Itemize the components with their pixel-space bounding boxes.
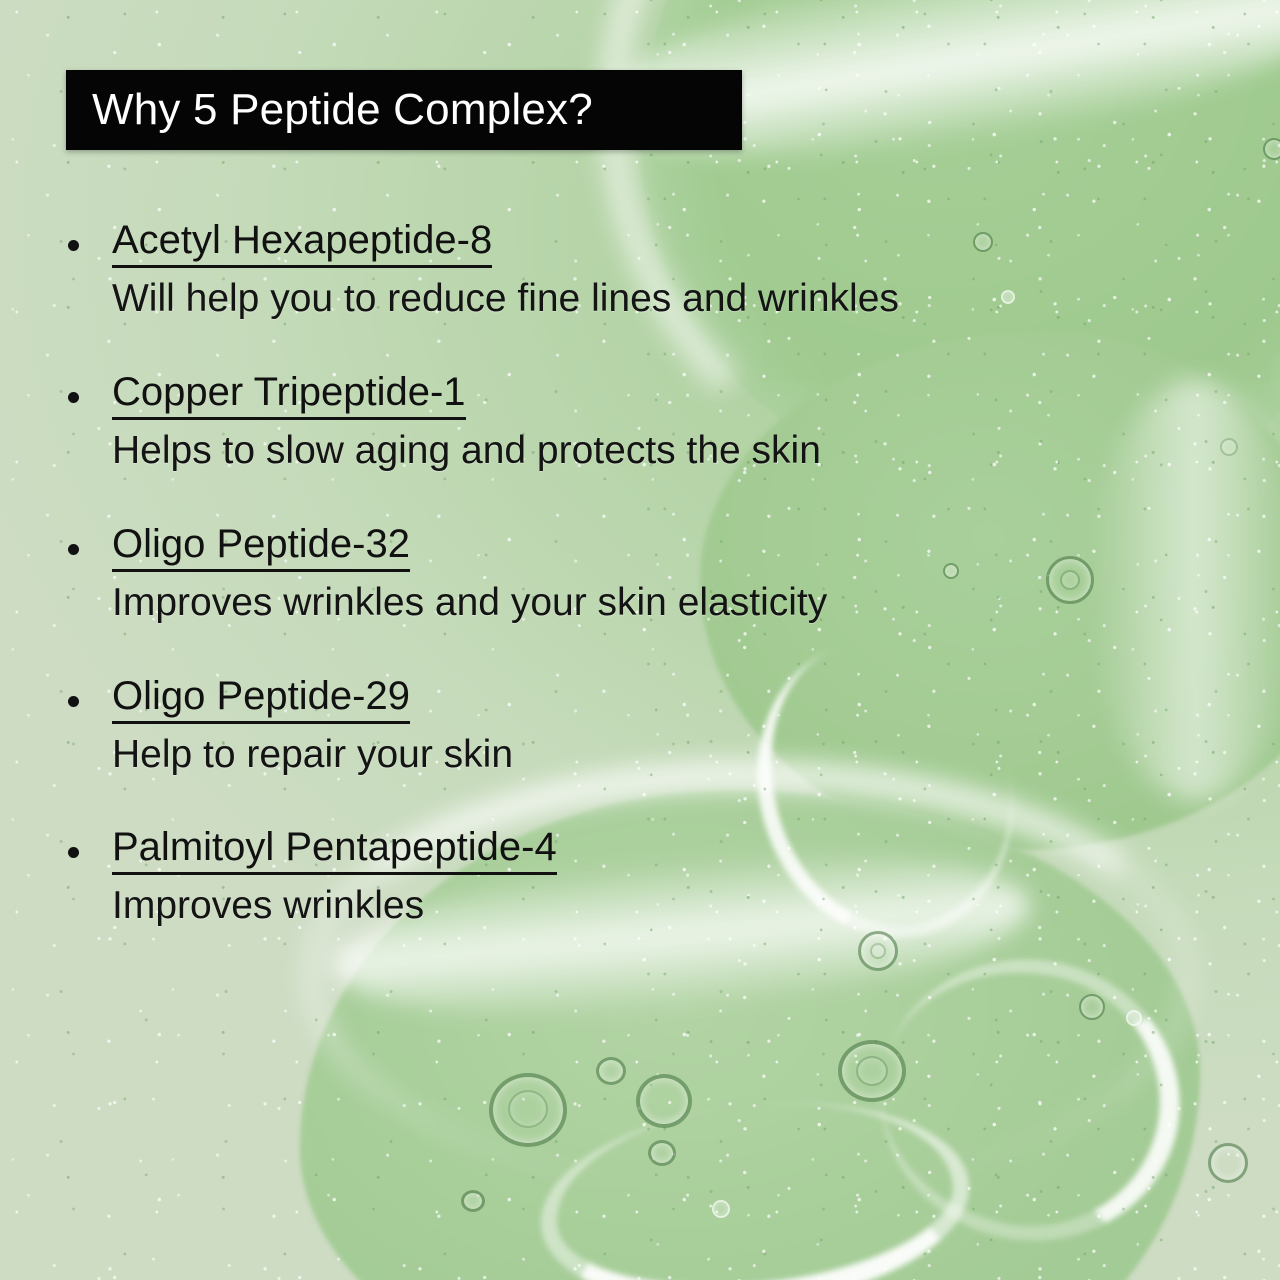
- peptide-list: Acetyl Hexapeptide-8 Will help you to re…: [0, 218, 1280, 977]
- list-item: Oligo Peptide-29 Help to repair your ski…: [0, 674, 1280, 778]
- peptide-benefit: Helps to slow aging and protects the ski…: [112, 429, 1280, 474]
- peptide-benefit: Improves wrinkles: [112, 884, 1280, 929]
- peptide-name: Palmitoyl Pentapeptide-4: [112, 825, 557, 875]
- list-item: Oligo Peptide-32 Improves wrinkles and y…: [0, 522, 1280, 626]
- peptide-benefit: Help to repair your skin: [112, 733, 1280, 778]
- peptide-name: Oligo Peptide-29: [112, 674, 410, 724]
- peptide-benefit: Improves wrinkles and your skin elastici…: [112, 581, 1280, 626]
- promo-graphic: Why 5 Peptide Complex? Acetyl Hexapeptid…: [0, 0, 1280, 1280]
- peptide-name: Acetyl Hexapeptide-8: [112, 218, 492, 268]
- bullet-dot-icon: [68, 240, 79, 251]
- bullet-dot-icon: [68, 544, 79, 555]
- bullet-dot-icon: [68, 847, 79, 858]
- page-title: Why 5 Peptide Complex?: [92, 88, 593, 132]
- list-item: Palmitoyl Pentapeptide-4 Improves wrinkl…: [0, 825, 1280, 929]
- bullet-dot-icon: [68, 392, 79, 403]
- peptide-name: Copper Tripeptide-1: [112, 370, 466, 420]
- title-banner: Why 5 Peptide Complex?: [66, 70, 742, 150]
- peptide-benefit: Will help you to reduce fine lines and w…: [112, 277, 1280, 322]
- bullet-dot-icon: [68, 696, 79, 707]
- list-item: Acetyl Hexapeptide-8 Will help you to re…: [0, 218, 1280, 322]
- content-overlay: Why 5 Peptide Complex? Acetyl Hexapeptid…: [0, 0, 1280, 1280]
- peptide-name: Oligo Peptide-32: [112, 522, 410, 572]
- list-item: Copper Tripeptide-1 Helps to slow aging …: [0, 370, 1280, 474]
